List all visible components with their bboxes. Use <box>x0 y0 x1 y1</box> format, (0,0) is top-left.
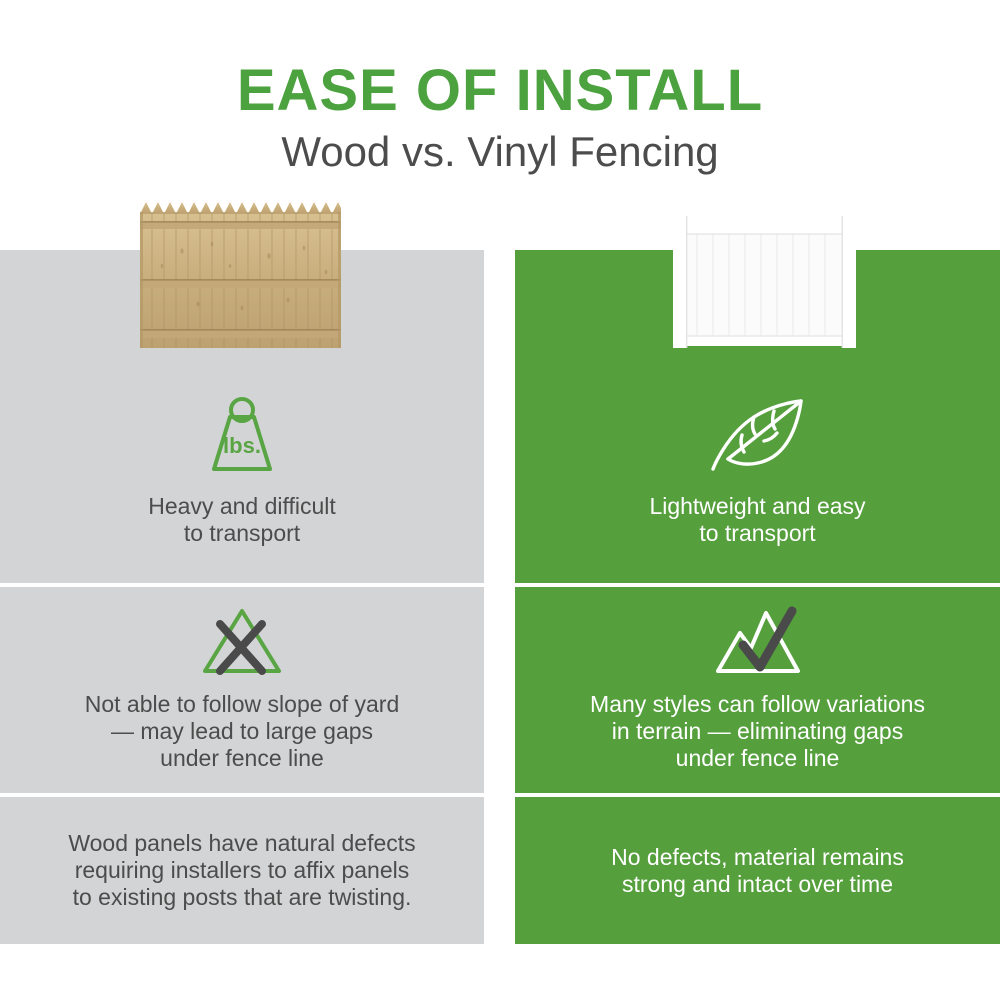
caption-vinyl-terrain: Many styles can follow variations in ter… <box>515 691 1000 772</box>
caption-line: Not able to follow slope of yard <box>0 691 484 718</box>
panel-vinyl-row-3: No defects, material remains strong and … <box>515 797 1000 944</box>
caption-line: strong and intact over time <box>515 871 1000 898</box>
page-title: EASE OF INSTALL <box>0 62 1000 120</box>
caption-line: — may lead to large gaps <box>0 718 484 745</box>
weight-lbs-icon: lbs. <box>205 395 279 475</box>
caption-wood-slope: Not able to follow slope of yard — may l… <box>0 691 484 772</box>
mountain-checkmark-icon <box>710 603 806 677</box>
caption-line: Wood panels have natural defects <box>0 830 484 857</box>
caption-line: Lightweight and easy <box>515 493 1000 520</box>
caption-vinyl-lightweight: Lightweight and easy to transport <box>515 493 1000 547</box>
white-vinyl-privacy-fence-image <box>663 196 866 348</box>
panel-vinyl-row-2: Many styles can follow variations in ter… <box>515 587 1000 793</box>
icon-cell-wood-slope <box>0 605 484 677</box>
panel-wood-row-3: Wood panels have natural defects requiri… <box>0 797 484 944</box>
caption-line: requiring installers to affix panels <box>0 857 484 884</box>
caption-line: under fence line <box>0 745 484 772</box>
caption-line: Many styles can follow variations <box>515 691 1000 718</box>
icon-cell-vinyl-terrain <box>515 603 1000 677</box>
icon-cell-wood-weight: lbs. <box>0 395 484 475</box>
wood-stockade-fence-image <box>138 196 343 350</box>
caption-vinyl-nodefects: No defects, material remains strong and … <box>515 844 1000 898</box>
weight-icon-label: lbs. <box>223 433 261 458</box>
caption-wood-defects: Wood panels have natural defects requiri… <box>0 830 484 911</box>
infographic-root: EASE OF INSTALL Wood vs. Vinyl Fencing l… <box>0 0 1000 1000</box>
caption-line: to transport <box>0 520 484 547</box>
triangle-x-icon <box>199 605 285 677</box>
caption-line: under fence line <box>515 745 1000 772</box>
feather-icon <box>706 395 810 477</box>
caption-line: to existing posts that are twisting. <box>0 884 484 911</box>
caption-line: No defects, material remains <box>515 844 1000 871</box>
page-subtitle: Wood vs. Vinyl Fencing <box>0 128 1000 176</box>
panel-wood-row-2: Not able to follow slope of yard — may l… <box>0 587 484 793</box>
caption-wood-weight: Heavy and difficult to transport <box>0 493 484 547</box>
caption-line: in terrain — eliminating gaps <box>515 718 1000 745</box>
caption-line: to transport <box>515 520 1000 547</box>
icon-cell-vinyl-feather <box>515 395 1000 477</box>
caption-line: Heavy and difficult <box>0 493 484 520</box>
